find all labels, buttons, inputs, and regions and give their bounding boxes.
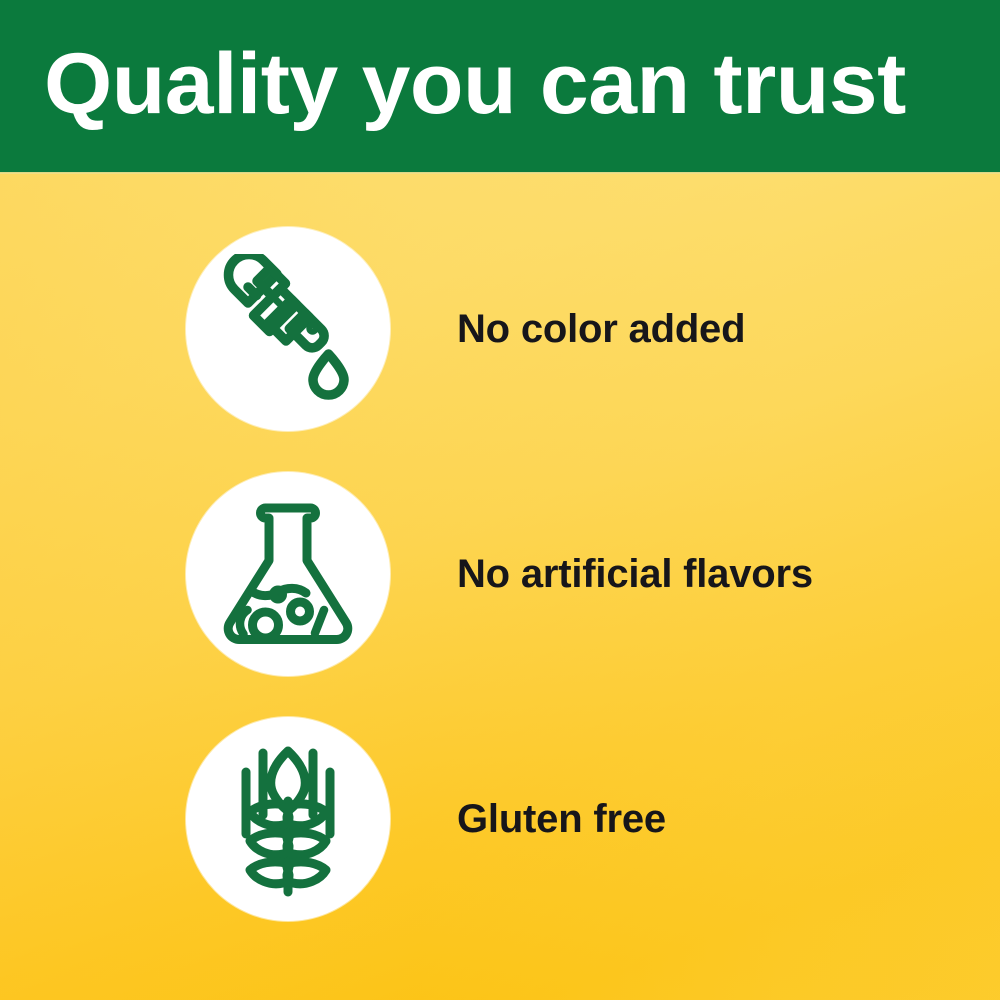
feature-label-no-color-added: No color added bbox=[457, 307, 745, 351]
dropper-icon bbox=[220, 254, 356, 404]
feature-row: Gluten free bbox=[0, 696, 1000, 941]
flask-icon bbox=[218, 498, 358, 650]
quality-claims-poster: Quality you can trust bbox=[0, 0, 1000, 1000]
feature-label-gluten-free: Gluten free bbox=[457, 797, 666, 841]
feature-label-no-artificial-flavors: No artificial flavors bbox=[457, 552, 813, 596]
header-banner: Quality you can trust bbox=[0, 0, 1000, 172]
wheat-icon bbox=[220, 739, 356, 899]
icon-badge-no-artificial-flavors bbox=[186, 472, 390, 676]
icon-badge-gluten-free bbox=[186, 717, 390, 921]
icon-badge-no-color-added bbox=[186, 227, 390, 431]
feature-row: No artificial flavors bbox=[0, 451, 1000, 696]
feature-list: No color added bbox=[0, 172, 1000, 1000]
feature-row: No color added bbox=[0, 206, 1000, 451]
page-title: Quality you can trust bbox=[44, 41, 906, 127]
